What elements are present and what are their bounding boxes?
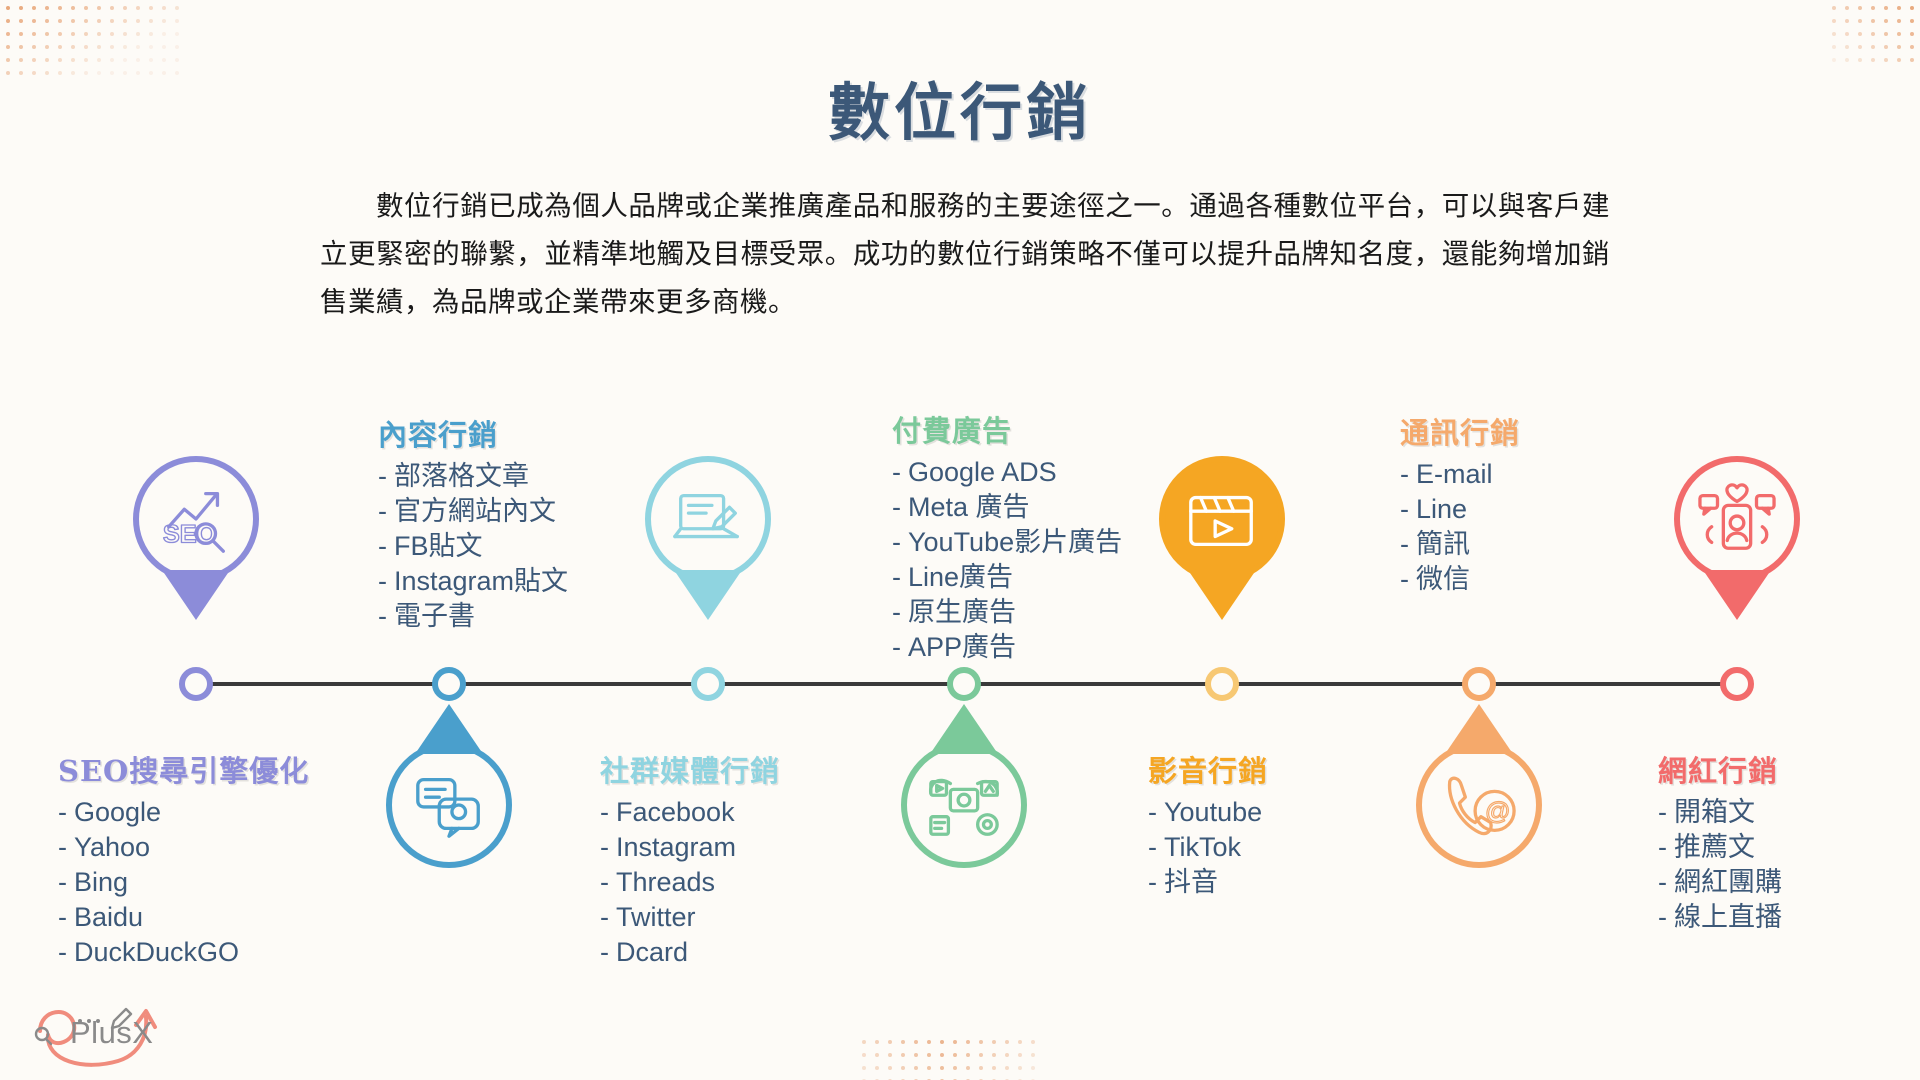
video-player-icon	[1183, 480, 1261, 558]
bullet-dash: -	[58, 832, 67, 862]
list-item: -網紅團購	[1658, 865, 1782, 900]
list-item: -Threads	[600, 865, 780, 900]
pin-tail	[1188, 570, 1256, 620]
pin-content-marketing[interactable]	[386, 742, 512, 868]
list-item-label: 微信	[1416, 564, 1470, 594]
pin-tail	[1445, 704, 1513, 754]
timeline-node-0[interactable]	[179, 667, 213, 701]
bullet-dash: -	[1400, 529, 1409, 559]
section-block-video-marketing: 影音行銷-Youtube-TikTok-抖音	[1148, 748, 1268, 900]
timeline-node-6[interactable]	[1720, 667, 1754, 701]
section-title-influencer-marketing: 網紅行銷	[1658, 748, 1782, 790]
section-title-seo: SEO搜尋引擎優化	[58, 748, 309, 790]
pin-tail	[1703, 570, 1771, 620]
list-item-label: Youtube	[1164, 797, 1262, 827]
list-item-label: Line	[1416, 494, 1467, 524]
section-block-seo: SEO搜尋引擎優化-Google-Yahoo-Bing-Baidu-DuckDu…	[58, 748, 309, 970]
plusx-logo: PlusX	[22, 995, 192, 1073]
pin-tail	[674, 570, 742, 620]
page-title: 數位行銷	[0, 62, 1920, 152]
section-list-seo: -Google-Yahoo-Bing-Baidu-DuckDuckGO	[58, 795, 309, 970]
pin-bubble-video-marketing	[1159, 456, 1285, 582]
section-list-social-media-marketing: -Facebook-Instagram-Threads-Twitter-Dcar…	[600, 795, 780, 970]
list-item-label: Facebook	[616, 797, 735, 827]
bullet-dash: -	[378, 461, 387, 491]
list-item: -Instagram	[600, 830, 780, 865]
section-block-content-marketing: 內容行銷-部落格文章-官方網站內文-FB貼文-Instagram貼文-電子書	[378, 412, 568, 634]
list-item: -TikTok	[1148, 830, 1268, 865]
bullet-dash: -	[600, 867, 609, 897]
list-item: -Baidu	[58, 900, 309, 935]
bullet-dash: -	[1148, 832, 1157, 862]
pin-tail	[162, 570, 230, 620]
bullet-dash: -	[1400, 494, 1409, 524]
bullet-dash: -	[1400, 459, 1409, 489]
list-item: -Dcard	[600, 935, 780, 970]
list-item-label: Google ADS	[908, 457, 1057, 487]
pin-bubble-messaging-marketing: @	[1416, 742, 1542, 868]
pin-bubble-paid-ads	[901, 742, 1027, 868]
bullet-dash: -	[58, 797, 67, 827]
list-item: -YouTube影片廣告	[892, 525, 1122, 560]
bullet-dash: -	[378, 531, 387, 561]
bullet-dash: -	[892, 632, 901, 662]
seo-chart-magnifier-icon: SEO	[157, 480, 235, 558]
svg-text:@: @	[1485, 798, 1511, 826]
list-item: -Line廣告	[892, 560, 1122, 595]
list-item: -Yahoo	[58, 830, 309, 865]
timeline-node-1[interactable]	[432, 667, 466, 701]
bullet-dash: -	[1658, 902, 1667, 932]
list-item-label: E-mail	[1416, 459, 1493, 489]
pin-seo[interactable]: SEO	[133, 456, 259, 582]
list-item-label: Meta 廣告	[908, 492, 1030, 522]
section-list-influencer-marketing: -開箱文-推薦文-網紅團購-線上直播	[1658, 795, 1782, 935]
bullet-dash: -	[1658, 867, 1667, 897]
list-item: -Google ADS	[892, 455, 1122, 490]
pin-messaging-marketing[interactable]: @	[1416, 742, 1542, 868]
list-item: -微信	[1400, 562, 1520, 597]
bullet-dash: -	[1400, 564, 1409, 594]
pin-video-marketing[interactable]	[1159, 456, 1285, 582]
section-title-content-marketing: 內容行銷	[378, 412, 568, 454]
list-item: -抖音	[1148, 865, 1268, 900]
section-list-video-marketing: -Youtube-TikTok-抖音	[1148, 795, 1268, 900]
list-item: -原生廣告	[892, 595, 1122, 630]
list-item-label: Yahoo	[74, 832, 150, 862]
section-title-video-marketing: 影音行銷	[1148, 748, 1268, 790]
pin-bubble-social-media-marketing	[645, 456, 771, 582]
section-list-paid-ads: -Google ADS-Meta 廣告-YouTube影片廣告-Line廣告-原…	[892, 455, 1122, 665]
timeline-node-5[interactable]	[1462, 667, 1496, 701]
phone-social-icon	[1698, 480, 1776, 558]
list-item-label: Threads	[616, 867, 715, 897]
list-item-label: 部落格文章	[394, 461, 529, 491]
list-item: -部落格文章	[378, 459, 568, 494]
list-item-label: 開箱文	[1674, 797, 1755, 827]
list-item-label: TikTok	[1164, 832, 1241, 862]
bullet-dash: -	[1658, 797, 1667, 827]
list-item: -線上直播	[1658, 900, 1782, 935]
list-item-label: YouTube影片廣告	[908, 527, 1122, 557]
list-item-label: 抖音	[1164, 867, 1218, 897]
list-item-label: FB貼文	[394, 531, 483, 561]
list-item-label: 網紅團購	[1674, 867, 1782, 897]
list-item-label: 推薦文	[1674, 832, 1755, 862]
bullet-dash: -	[892, 597, 901, 627]
bullet-dash: -	[600, 797, 609, 827]
list-item: -Instagram貼文	[378, 564, 568, 599]
list-item: -APP廣告	[892, 630, 1122, 665]
list-item: -官方網站內文	[378, 494, 568, 529]
list-item-label: Bing	[74, 867, 128, 897]
ads-network-icon	[925, 766, 1003, 844]
bullet-dash: -	[58, 937, 67, 967]
list-item-label: 官方網站內文	[394, 496, 556, 526]
bullet-dash: -	[1658, 832, 1667, 862]
pin-tail	[930, 704, 998, 754]
section-list-messaging-marketing: -E-mail-Line-簡訊-微信	[1400, 457, 1520, 597]
section-title-messaging-marketing: 通訊行銷	[1400, 410, 1520, 452]
list-item-label: 線上直播	[1674, 902, 1782, 932]
section-block-social-media-marketing: 社群媒體行銷-Facebook-Instagram-Threads-Twitte…	[600, 748, 780, 970]
bullet-dash: -	[600, 832, 609, 862]
pin-influencer-marketing[interactable]	[1674, 456, 1800, 582]
section-list-content-marketing: -部落格文章-官方網站內文-FB貼文-Instagram貼文-電子書	[378, 459, 568, 634]
pin-bubble-influencer-marketing	[1674, 456, 1800, 582]
list-item-label: Twitter	[616, 902, 696, 932]
list-item-label: Instagram	[616, 832, 736, 862]
infographic-canvas: 數位行銷 數位行銷已成為個人品牌或企業推廣產品和服務的主要途徑之一。通過各種數位…	[0, 0, 1920, 1080]
list-item: -Line	[1400, 492, 1520, 527]
list-item: -電子書	[378, 599, 568, 634]
section-block-paid-ads: 付費廣告-Google ADS-Meta 廣告-YouTube影片廣告-Line…	[892, 408, 1122, 665]
list-item-label: 原生廣告	[908, 597, 1016, 627]
laptop-pen-icon	[669, 480, 747, 558]
phone-email-icon: @	[1440, 766, 1518, 844]
bullet-dash: -	[378, 496, 387, 526]
bullet-dash: -	[378, 601, 387, 631]
pin-social-media-marketing[interactable]	[645, 456, 771, 582]
pin-bubble-content-marketing	[386, 742, 512, 868]
list-item: -E-mail	[1400, 457, 1520, 492]
chat-bubbles-icon	[410, 766, 488, 844]
bullet-dash: -	[58, 867, 67, 897]
list-item: -Bing	[58, 865, 309, 900]
bullet-dash: -	[1148, 867, 1157, 897]
list-item: -Meta 廣告	[892, 490, 1122, 525]
section-block-influencer-marketing: 網紅行銷-開箱文-推薦文-網紅團購-線上直播	[1658, 748, 1782, 935]
list-item-label: 簡訊	[1416, 529, 1470, 559]
pin-tail	[415, 704, 483, 754]
bullet-dash: -	[892, 457, 901, 487]
bullet-dash: -	[600, 902, 609, 932]
bullet-dash: -	[892, 562, 901, 592]
list-item: -Google	[58, 795, 309, 830]
list-item-label: Google	[74, 797, 161, 827]
list-item: -FB貼文	[378, 529, 568, 564]
bullet-dash: -	[58, 902, 67, 932]
list-item: -Youtube	[1148, 795, 1268, 830]
section-title-paid-ads: 付費廣告	[892, 408, 1122, 450]
logo-text: PlusX	[70, 1015, 153, 1051]
bullet-dash: -	[892, 492, 901, 522]
pin-bubble-seo: SEO	[133, 456, 259, 582]
list-item-label: APP廣告	[908, 632, 1016, 662]
section-block-messaging-marketing: 通訊行銷-E-mail-Line-簡訊-微信	[1400, 410, 1520, 597]
list-item: -開箱文	[1658, 795, 1782, 830]
bullet-dash: -	[892, 527, 901, 557]
bullet-dash: -	[1148, 797, 1157, 827]
bullet-dash: -	[600, 937, 609, 967]
list-item: -推薦文	[1658, 830, 1782, 865]
list-item-label: Baidu	[74, 902, 143, 932]
list-item: -Facebook	[600, 795, 780, 830]
list-item: -DuckDuckGO	[58, 935, 309, 970]
timeline-node-2[interactable]	[691, 667, 725, 701]
list-item: -Twitter	[600, 900, 780, 935]
intro-paragraph: 數位行銷已成為個人品牌或企業推廣產品和服務的主要途徑之一。通過各種數位平台，可以…	[320, 182, 1610, 326]
list-item-label: Line廣告	[908, 562, 1013, 592]
timeline-node-3[interactable]	[947, 667, 981, 701]
section-title-social-media-marketing: 社群媒體行銷	[600, 748, 780, 790]
list-item-label: Instagram貼文	[394, 566, 568, 596]
list-item-label: Dcard	[616, 937, 688, 967]
pin-paid-ads[interactable]	[901, 742, 1027, 868]
list-item-label: DuckDuckGO	[74, 937, 239, 967]
list-item-label: 電子書	[394, 601, 475, 631]
bullet-dash: -	[378, 566, 387, 596]
timeline-node-4[interactable]	[1205, 667, 1239, 701]
list-item: -簡訊	[1400, 527, 1520, 562]
